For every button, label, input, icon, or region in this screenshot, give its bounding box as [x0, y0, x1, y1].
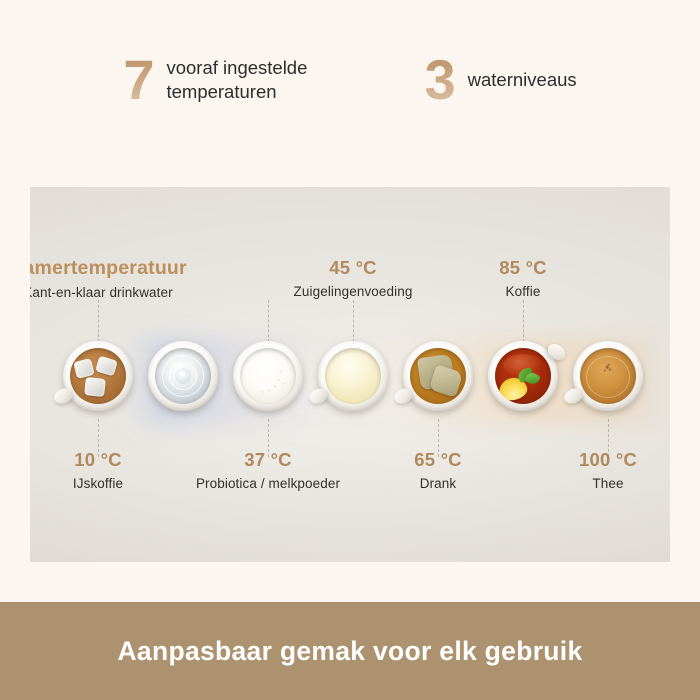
label-drink-name: Zuigelingenvoeding	[294, 284, 413, 299]
temperature-panel: Kamertemperatuur Kant-en-klaar drinkwate…	[30, 187, 670, 562]
label-drink-name: Koffie	[499, 284, 546, 299]
stat-number-presets: 7	[123, 53, 153, 106]
label-drink-name: Kant-en-klaar drinkwater	[30, 285, 187, 300]
ice-cube	[84, 377, 106, 397]
crema-speckles	[588, 356, 628, 396]
label-drink-name: Probiotica / melkpoeder	[196, 476, 340, 491]
liquid-water	[155, 348, 211, 404]
label-temp-value: 37 °C	[196, 449, 340, 471]
liquid-formula	[325, 348, 381, 404]
stat-number-water-levels: 3	[424, 53, 454, 106]
label-temp-value: 65 °C	[414, 449, 461, 471]
label-drink-name: Thee	[579, 476, 637, 491]
cup-tea	[567, 337, 649, 423]
label-temp-value: 45 °C	[294, 257, 413, 279]
stat-label-water-levels: waterniveaus	[468, 68, 577, 91]
cup-drinking-water	[142, 337, 224, 423]
connector-line-preset-1	[98, 300, 99, 342]
water-swirl-center	[175, 368, 191, 384]
cup-infant-formula	[312, 337, 394, 423]
header-stats: 7 vooraf ingestelde temperaturen 3 water…	[0, 0, 700, 187]
connector-line-preset-3	[268, 300, 269, 342]
label-temp-value: 100 °C	[579, 449, 637, 471]
label-preset-45c: 45 °C Zuigelingenvoeding	[294, 257, 413, 299]
infographic-page: 7 vooraf ingestelde temperaturen 3 water…	[0, 0, 700, 700]
label-temp-value: 10 °C	[73, 449, 123, 471]
label-drink-name: Drank	[414, 476, 461, 491]
label-preset-65c: 65 °C Drank	[414, 449, 461, 491]
connector-line-preset-4	[353, 300, 354, 342]
label-preset-85c: 85 °C Koffie	[499, 257, 546, 299]
liquid-tea	[410, 348, 466, 404]
cup-iced-coffee	[57, 337, 139, 423]
tea-bag-icon	[429, 364, 464, 397]
label-temp-value: Kamertemperatuur	[30, 257, 187, 280]
label-drink-name: IJskoffie	[73, 476, 123, 491]
footer-banner: Aanpasbaar gemak voor elk gebruik	[0, 602, 700, 700]
liquid-black-tea	[495, 348, 551, 404]
label-preset-10c: 10 °C IJskoffie	[73, 449, 123, 491]
liquid-espresso	[580, 348, 636, 404]
stat-water-levels: 3 waterniveaus	[424, 53, 576, 106]
cup-coffee	[482, 337, 564, 423]
ice-cube	[95, 356, 118, 377]
stat-label-presets: vooraf ingestelde temperaturen	[166, 56, 356, 103]
ice-cube	[73, 358, 95, 379]
stat-preset-temperatures: 7 vooraf ingestelde temperaturen	[123, 53, 356, 106]
milk-foam-bubbles	[244, 352, 292, 400]
footer-tagline: Aanpasbaar gemak voor elk gebruik	[118, 636, 583, 667]
liquid-milk	[240, 348, 296, 404]
liquid-iced-coffee	[70, 348, 126, 404]
cup-row	[30, 337, 670, 425]
cup-beverage	[397, 337, 479, 423]
label-preset-37c: 37 °C Probiotica / melkpoeder	[196, 449, 340, 491]
label-temp-value: 85 °C	[499, 257, 546, 279]
connector-line-preset-6	[523, 300, 524, 342]
label-preset-room-temperature: Kamertemperatuur Kant-en-klaar drinkwate…	[30, 257, 187, 300]
cup-milk-powder	[227, 337, 309, 423]
label-preset-100c: 100 °C Thee	[579, 449, 637, 491]
